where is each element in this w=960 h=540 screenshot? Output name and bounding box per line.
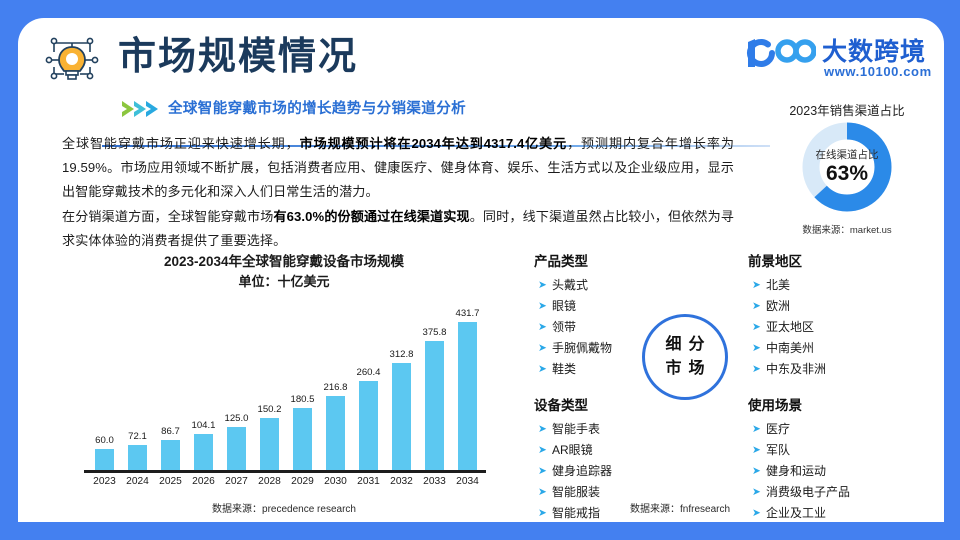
center-circle-line1: 细分 <box>658 333 711 357</box>
page-subtitle: 全球智能穿戴市场的增长趋势与分销渠道分析 <box>168 98 466 120</box>
segment-item-label: 医疗 <box>766 419 790 440</box>
header: 市场规模情况 全球智能穿戴市场的增长趋势与分销渠道分析 <box>40 22 730 122</box>
donut-chart: 在线渠道占比 63% <box>800 120 894 214</box>
chevron-right-bullet-icon: ➤ <box>534 503 552 524</box>
bar-rect <box>95 449 114 470</box>
bar-rect <box>194 434 213 470</box>
bar-column: 260.4 <box>359 298 378 470</box>
bar-value-label: 60.0 <box>95 435 114 446</box>
segment-item-label: 智能戒指 <box>552 503 600 524</box>
segment-list-item[interactable]: ➤头戴式 <box>534 275 734 296</box>
segment-title: 设备类型 <box>534 396 734 416</box>
x-tick-label: 2030 <box>319 476 352 487</box>
bar-rect <box>359 381 378 470</box>
chevron-right-bullet-icon: ➤ <box>748 461 766 482</box>
segment-group-region: 前景地区➤北美➤欧洲➤亚太地区➤中南美州➤中东及非洲 <box>748 252 948 380</box>
chevron-right-bullet-icon: ➤ <box>748 503 766 524</box>
bar-value-label: 86.7 <box>161 426 180 437</box>
segment-item-label: 中东及非洲 <box>766 359 826 380</box>
lightbulb-network-icon <box>42 30 102 90</box>
bar-rect <box>128 445 147 470</box>
segment-item-label: 手腕佩戴物 <box>552 338 612 359</box>
segment-list-item[interactable]: ➤医疗 <box>748 419 948 440</box>
segment-list-item[interactable]: ➤中南美州 <box>748 338 948 359</box>
chevron-right-bullet-icon: ➤ <box>534 275 552 296</box>
segment-item-label: 头戴式 <box>552 275 588 296</box>
segments-source: 数据来源：fnfresearch <box>630 500 730 515</box>
segment-item-label: 北美 <box>766 275 790 296</box>
p2-part-a: 在分销渠道方面，全球智能穿戴市场 <box>62 209 273 224</box>
chevron-right-bullet-icon: ➤ <box>534 296 552 317</box>
segment-item-label: 企业及工业 <box>766 503 826 524</box>
chart-subtitle: 单位：十亿美元 <box>74 272 494 292</box>
segment-item-label: 鞋类 <box>552 359 576 380</box>
segment-item-label: 智能手表 <box>552 419 600 440</box>
bar-value-label: 312.8 <box>389 349 413 360</box>
donut-center-value: 63% <box>826 162 868 186</box>
bar-value-label: 125.0 <box>224 413 248 424</box>
bar-rect <box>293 408 312 470</box>
chevron-right-bullet-icon: ➤ <box>534 419 552 440</box>
chevron-right-bullet-icon: ➤ <box>748 482 766 503</box>
x-tick-label: 2029 <box>286 476 319 487</box>
donut-source: 数据来源：market.us <box>752 222 942 236</box>
bar-column: 431.7 <box>458 298 477 470</box>
bar-rect <box>227 427 246 470</box>
chevron-right-bullet-icon: ➤ <box>534 338 552 359</box>
bar-value-label: 375.8 <box>422 327 446 338</box>
chevron-right-bullet-icon: ➤ <box>748 275 766 296</box>
chevron-right-bullet-icon: ➤ <box>534 461 552 482</box>
bar-value-label: 431.7 <box>455 308 479 319</box>
bar-chart-block: 2023-2034年全球智能穿戴设备市场规模 单位：十亿美元 60.072.18… <box>74 252 494 514</box>
bar-rect <box>326 396 345 470</box>
segment-item-label: AR眼镜 <box>552 440 593 461</box>
x-tick-label: 2028 <box>253 476 286 487</box>
segment-item-label: 消费级电子产品 <box>766 482 850 503</box>
chevron-right-bullet-icon: ➤ <box>534 440 552 461</box>
donut-title: 2023年销售渠道占比 <box>752 100 942 119</box>
bar-column: 216.8 <box>326 298 345 470</box>
segment-list-item[interactable]: ➤北美 <box>748 275 948 296</box>
brand-name: 大数跨境 <box>822 32 926 68</box>
chart-source: 数据来源：precedence research <box>74 500 494 515</box>
chevron-right-bullet-icon: ➤ <box>748 296 766 317</box>
segment-list-item[interactable]: ➤企业及工业 <box>748 503 948 524</box>
bar-column: 72.1 <box>128 298 147 470</box>
x-tick-label: 2032 <box>385 476 418 487</box>
segment-list-item[interactable]: ➤消费级电子产品 <box>748 482 948 503</box>
segment-list-item[interactable]: ➤健身和运动 <box>748 461 948 482</box>
paragraph-channels: 在分销渠道方面，全球智能穿戴市场有63.0%的份额通过在线渠道实现。同时，线下渠… <box>62 205 734 253</box>
chevron-right-bullet-icon: ➤ <box>748 317 766 338</box>
x-tick-label: 2034 <box>451 476 484 487</box>
x-tick-label: 2033 <box>418 476 451 487</box>
center-circle-line2: 市场 <box>658 357 711 381</box>
segment-item-label: 军队 <box>766 440 790 461</box>
segment-item-label: 健身和运动 <box>766 461 826 482</box>
bar-rect <box>260 418 279 470</box>
chevron-right-bullet-icon: ➤ <box>748 440 766 461</box>
page-title: 市场规模情况 <box>118 30 358 84</box>
segment-item-label: 健身追踪器 <box>552 461 612 482</box>
chevron-right-bullet-icon: ➤ <box>748 419 766 440</box>
x-tick-label: 2023 <box>88 476 121 487</box>
x-tick-label: 2026 <box>187 476 220 487</box>
bar-rect <box>425 341 444 470</box>
segment-list-item[interactable]: ➤亚太地区 <box>748 317 948 338</box>
bar-column: 375.8 <box>425 298 444 470</box>
x-tick-label: 2027 <box>220 476 253 487</box>
bar-rect <box>458 322 477 470</box>
donut-center-label: 在线渠道占比 <box>816 148 879 162</box>
bar-column: 180.5 <box>293 298 312 470</box>
chart-x-axis <box>84 470 486 473</box>
segment-list-item[interactable]: ➤军队 <box>748 440 948 461</box>
bar-value-label: 150.2 <box>257 404 281 415</box>
bar-value-label: 216.8 <box>323 382 347 393</box>
body-text: 全球智能穿戴市场正迎来快速增长期，市场规模预计将在2034年达到4317.4亿美… <box>62 132 734 253</box>
chart-plot-area: 60.072.186.7104.1125.0150.2180.5216.8260… <box>88 298 484 470</box>
segment-list-item[interactable]: ➤欧洲 <box>748 296 948 317</box>
bar-column: 125.0 <box>227 298 246 470</box>
chevron-right-bullet-icon: ➤ <box>534 482 552 503</box>
segment-item-label: 中南美州 <box>766 338 814 359</box>
p1-highlight: 市场规模预计将在2034年达到4317.4亿美元 <box>300 136 567 151</box>
segment-list-item[interactable]: ➤中东及非洲 <box>748 359 948 380</box>
segment-item-label: 欧洲 <box>766 296 790 317</box>
segment-item-label: 智能服装 <box>552 482 600 503</box>
segment-list-item[interactable]: ➤智能手表 <box>534 419 734 440</box>
logo-mark-icon <box>742 36 816 70</box>
bar-rect <box>161 440 180 470</box>
bar-column: 86.7 <box>161 298 180 470</box>
x-tick-label: 2031 <box>352 476 385 487</box>
brand-logo[interactable]: 大数跨境 www.10100.com <box>742 34 942 90</box>
segment-title: 使用场景 <box>748 396 948 416</box>
segment-list-item[interactable]: ➤眼镜 <box>534 296 734 317</box>
paragraph-market-size: 全球智能穿戴市场正迎来快速增长期，市场规模预计将在2034年达到4317.4亿美… <box>62 132 734 205</box>
bar-value-label: 104.1 <box>191 420 215 431</box>
p2-highlight: 有63.0%的份额通过在线渠道实现 <box>273 209 469 224</box>
segment-title: 产品类型 <box>534 252 734 272</box>
bar-column: 104.1 <box>194 298 213 470</box>
double-chevron-right-icon <box>120 98 162 120</box>
segment-group-usecase: 使用场景➤医疗➤军队➤健身和运动➤消费级电子产品➤企业及工业 <box>748 396 948 524</box>
segment-list-item[interactable]: ➤AR眼镜 <box>534 440 734 461</box>
bar-value-label: 72.1 <box>128 431 147 442</box>
segment-center-circle: 细分 市场 <box>642 314 728 400</box>
bar-column: 60.0 <box>95 298 114 470</box>
segment-item-label: 领带 <box>552 317 576 338</box>
chart-x-tick-labels: 2023202420252026202720282029203020312032… <box>88 476 484 494</box>
x-tick-label: 2025 <box>154 476 187 487</box>
bar-column: 312.8 <box>392 298 411 470</box>
donut-chart-block: 2023年销售渠道占比 在线渠道占比 63% 数据来源：market.us <box>752 100 942 242</box>
segment-item-label: 亚太地区 <box>766 317 814 338</box>
chevron-right-bullet-icon: ➤ <box>534 317 552 338</box>
bar-rect <box>392 363 411 470</box>
bar-value-label: 260.4 <box>356 367 380 378</box>
chevron-right-bullet-icon: ➤ <box>748 359 766 380</box>
segment-title: 前景地区 <box>748 252 948 272</box>
x-tick-label: 2024 <box>121 476 154 487</box>
bar-column: 150.2 <box>260 298 279 470</box>
brand-url[interactable]: www.10100.com <box>824 64 932 79</box>
infographic-page: 市场规模情况 全球智能穿戴市场的增长趋势与分销渠道分析 大数跨境 www.101… <box>0 0 960 540</box>
p1-part-a: 全球智能穿戴市场正迎来快速增长期， <box>62 136 300 151</box>
segment-list-item[interactable]: ➤健身追踪器 <box>534 461 734 482</box>
donut-center-text: 在线渠道占比 63% <box>800 120 894 214</box>
bar-value-label: 180.5 <box>290 394 314 405</box>
segment-item-label: 眼镜 <box>552 296 576 317</box>
chevron-right-bullet-icon: ➤ <box>748 338 766 359</box>
chevron-right-bullet-icon: ➤ <box>534 359 552 380</box>
chart-title: 2023-2034年全球智能穿戴设备市场规模 <box>74 252 494 272</box>
